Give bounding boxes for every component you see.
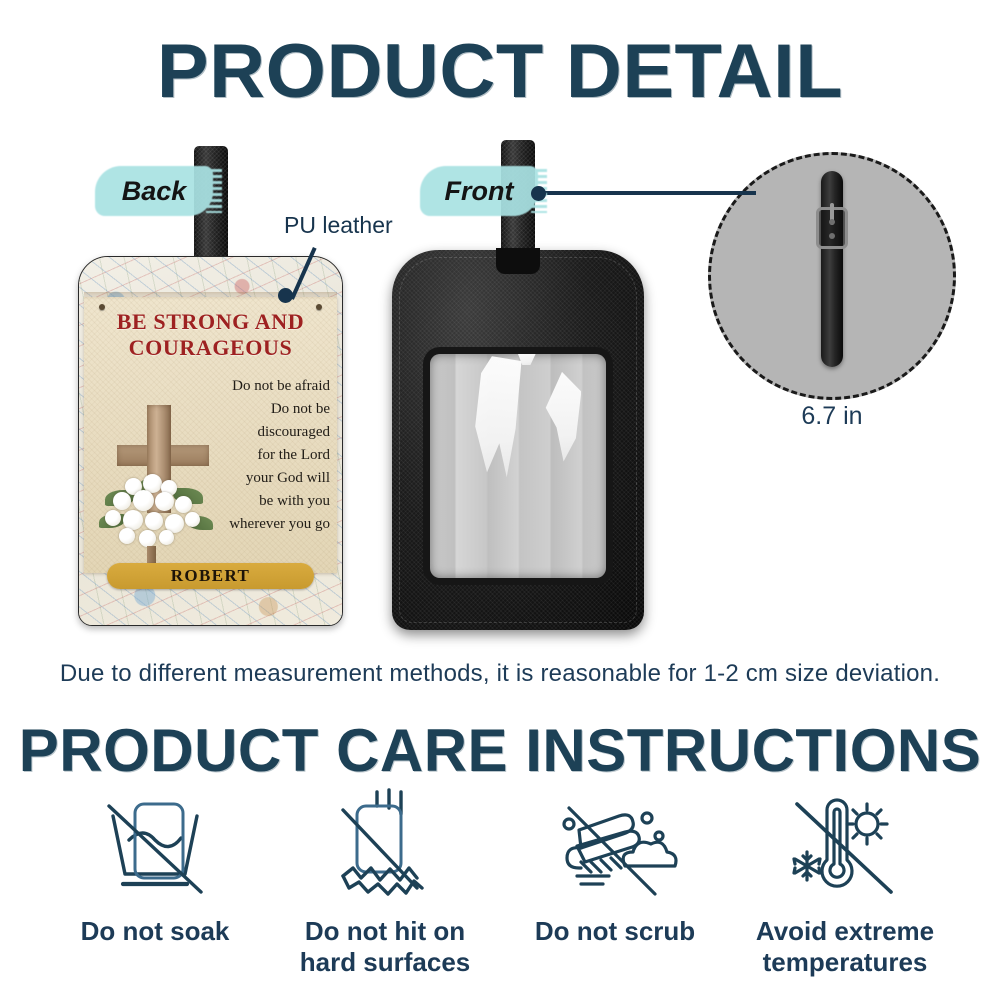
personalized-name-plate: ROBERT xyxy=(107,563,314,589)
label-badge-back: Back xyxy=(95,166,213,216)
avoid-extreme-temperatures-icon xyxy=(781,788,909,908)
front-tag-body xyxy=(392,250,644,630)
buckle-hole-icon xyxy=(829,219,835,225)
personalized-name-text: ROBERT xyxy=(107,563,314,589)
do-not-scrub-icon xyxy=(551,788,679,908)
do-not-soak-icon xyxy=(91,788,219,908)
verse-line: discouraged xyxy=(198,421,330,444)
window-glare-icon xyxy=(543,372,582,462)
verse-line: for the Lord xyxy=(198,444,330,467)
care-item-label: Do not scrub xyxy=(535,916,695,947)
back-tag-title-line2: COURAGEOUS xyxy=(87,335,334,361)
strap-callout-line xyxy=(543,191,756,195)
strap-callout-dot xyxy=(531,186,546,201)
care-item-label: Do not soak xyxy=(81,916,230,947)
back-tag-verse: Do not be afraid Do not be discouraged f… xyxy=(198,375,330,536)
back-tag-title-line1: BE STRONG AND xyxy=(87,309,334,335)
label-badge-front: Front xyxy=(420,166,538,216)
verse-line: Do not be afraid xyxy=(198,375,330,398)
care-item-label: Do not hit on hard surfaces xyxy=(300,916,471,978)
page-title: PRODUCT DETAIL xyxy=(0,28,1000,115)
front-tag-notch xyxy=(496,248,540,274)
care-instructions-row: Do not soak Do not hit on hard surfaces xyxy=(40,788,960,978)
pu-leather-callout-dot xyxy=(278,288,293,303)
care-item-do-not-scrub: Do not scrub xyxy=(500,788,730,947)
care-item-do-not-soak: Do not soak xyxy=(40,788,270,947)
buckle-icon xyxy=(816,207,848,249)
strap-size-label: 6.7 in xyxy=(708,402,956,431)
back-tag-body: BE STRONG AND COURAGEOUS Do not be afrai… xyxy=(78,256,343,626)
verse-line: wherever you go xyxy=(198,513,330,536)
window-glare-icon xyxy=(472,356,521,477)
verse-line: your God will xyxy=(198,467,330,490)
care-instructions-title: PRODUCT CARE INSTRUCTIONS xyxy=(0,716,1000,785)
care-item-avoid-extreme-temperatures: Avoid extreme temperatures xyxy=(730,788,960,978)
care-item-label: Avoid extreme temperatures xyxy=(756,916,934,978)
pu-leather-callout-text: PU leather xyxy=(284,212,393,239)
verse-line: be with you xyxy=(198,490,330,513)
back-tag-title: BE STRONG AND COURAGEOUS xyxy=(87,309,334,361)
strap-detail-circle xyxy=(708,152,956,400)
front-tag-id-window xyxy=(430,354,606,578)
label-badge-front-text: Front xyxy=(420,166,538,216)
strap-closeup-icon xyxy=(821,171,843,367)
care-item-do-not-hit: Do not hit on hard surfaces xyxy=(270,788,500,978)
measurement-disclaimer: Due to different measurement methods, it… xyxy=(0,660,1000,688)
label-badge-back-text: Back xyxy=(95,166,213,216)
verse-line: Do not be xyxy=(198,398,330,421)
do-not-hit-icon xyxy=(321,788,449,908)
buckle-hole-icon xyxy=(829,233,835,239)
